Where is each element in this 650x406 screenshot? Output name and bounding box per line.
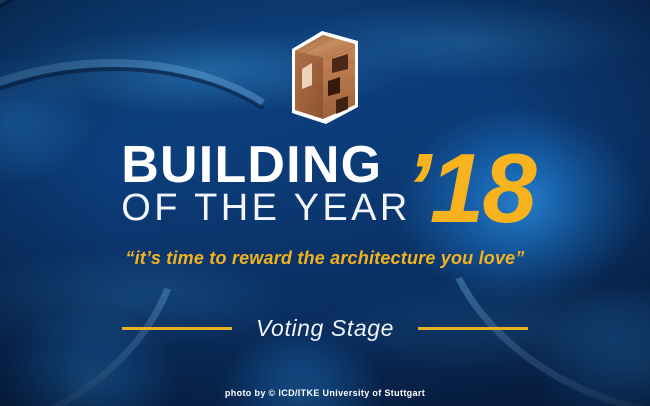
stage-rule-right	[418, 327, 528, 330]
stage-row: Voting Stage	[0, 315, 650, 342]
poster-canvas: BUILDING OF THE YEAR ’18 “it’s time to r…	[0, 0, 650, 406]
page-title-year: ’18	[404, 139, 534, 237]
wooden-building-block-icon	[288, 27, 362, 127]
photo-credit: photo by © ICD/ITKE University of Stuttg…	[0, 388, 650, 398]
page-title-sub: OF THE YEAR	[121, 188, 410, 228]
stage-rule-left	[122, 327, 232, 330]
logo-container	[0, 27, 650, 127]
page-title-main: BUILDING	[121, 140, 410, 190]
stage-label: Voting Stage	[256, 315, 394, 342]
title-rows: BUILDING OF THE YEAR ’18	[121, 140, 528, 228]
tagline: “it’s time to reward the architecture yo…	[0, 248, 650, 269]
title-block: BUILDING OF THE YEAR ’18	[0, 140, 650, 228]
poster-content: BUILDING OF THE YEAR ’18 “it’s time to r…	[0, 0, 650, 406]
